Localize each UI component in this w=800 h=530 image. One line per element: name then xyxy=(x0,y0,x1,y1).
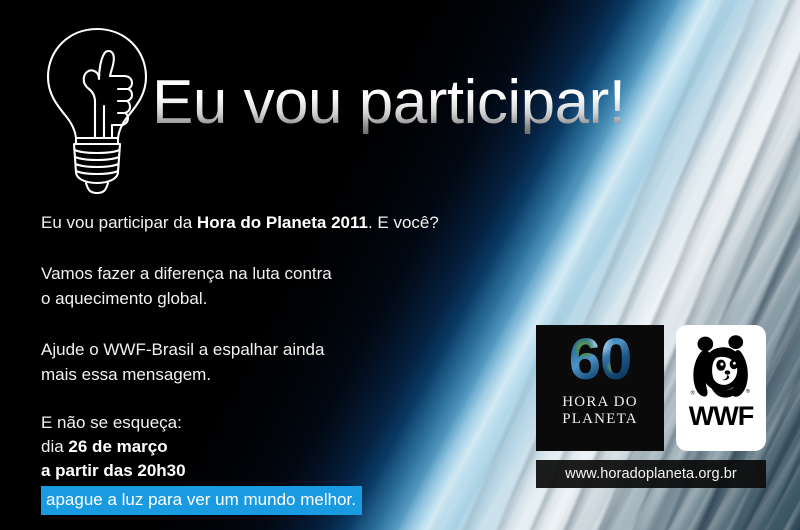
reminder-date: 26 de março xyxy=(68,437,167,456)
reminder-time: a partir das 20h30 xyxy=(41,461,186,480)
reminder-line-3: a partir das 20h30 xyxy=(41,459,521,483)
earth-hour-wordmark-line-2: PLANETA xyxy=(562,411,638,428)
earth-hour-number: 60 xyxy=(569,331,632,389)
pledge-suffix: . E você? xyxy=(368,213,439,232)
svg-text:®: ® xyxy=(691,390,695,397)
svg-text:®: ® xyxy=(746,388,750,395)
pledge-bold: Hora do Planeta 2011 xyxy=(197,213,368,232)
paragraph-reminder: E não se esqueça: dia 26 de março a part… xyxy=(41,411,521,515)
website-url: www.horadoplaneta.org.br xyxy=(565,466,737,482)
paragraph-help-wwf: Ajude o WWF-Brasil a espalhar ainda mais… xyxy=(41,337,521,387)
wwf-panda-logo[interactable]: ® ® WWF xyxy=(676,325,766,451)
wwf-wordmark: WWF xyxy=(689,403,753,430)
paragraph-pledge: Eu vou participar da Hora do Planeta 201… xyxy=(41,210,521,235)
difference-line-1: Vamos fazer a diferença na luta contra xyxy=(41,264,332,283)
earth-hour-60-logo[interactable]: 60 HORA DO PLANETA xyxy=(536,325,664,451)
earth-hour-wordmark: HORA DO PLANETA xyxy=(562,394,638,428)
paragraph-difference: Vamos fazer a diferença na luta contra o… xyxy=(41,261,521,311)
earth-hour-poster: Eu vou participar! Eu vou participar da … xyxy=(0,0,800,530)
difference-line-2: o aquecimento global. xyxy=(41,289,207,308)
help-wwf-line-2: mais essa mensagem. xyxy=(41,365,211,384)
pledge-prefix: Eu vou participar da xyxy=(41,213,197,232)
body-copy: Eu vou participar da Hora do Planeta 201… xyxy=(41,210,521,515)
website-url-bar[interactable]: www.horadoplaneta.org.br xyxy=(536,460,766,488)
reminder-line-1: E não se esqueça: xyxy=(41,411,521,435)
call-to-action-highlight: apague a luz para ver um mundo melhor. xyxy=(41,486,362,515)
panda-icon: ® ® xyxy=(686,332,756,402)
reminder-date-prefix: dia xyxy=(41,437,68,456)
reminder-line-2: dia 26 de março xyxy=(41,435,521,459)
lightbulb-thumbs-up-icon xyxy=(38,26,156,198)
earth-hour-wordmark-line-1: HORA DO xyxy=(562,394,638,411)
page-title: Eu vou participar! xyxy=(152,72,625,134)
help-wwf-line-1: Ajude o WWF-Brasil a espalhar ainda xyxy=(41,340,324,359)
